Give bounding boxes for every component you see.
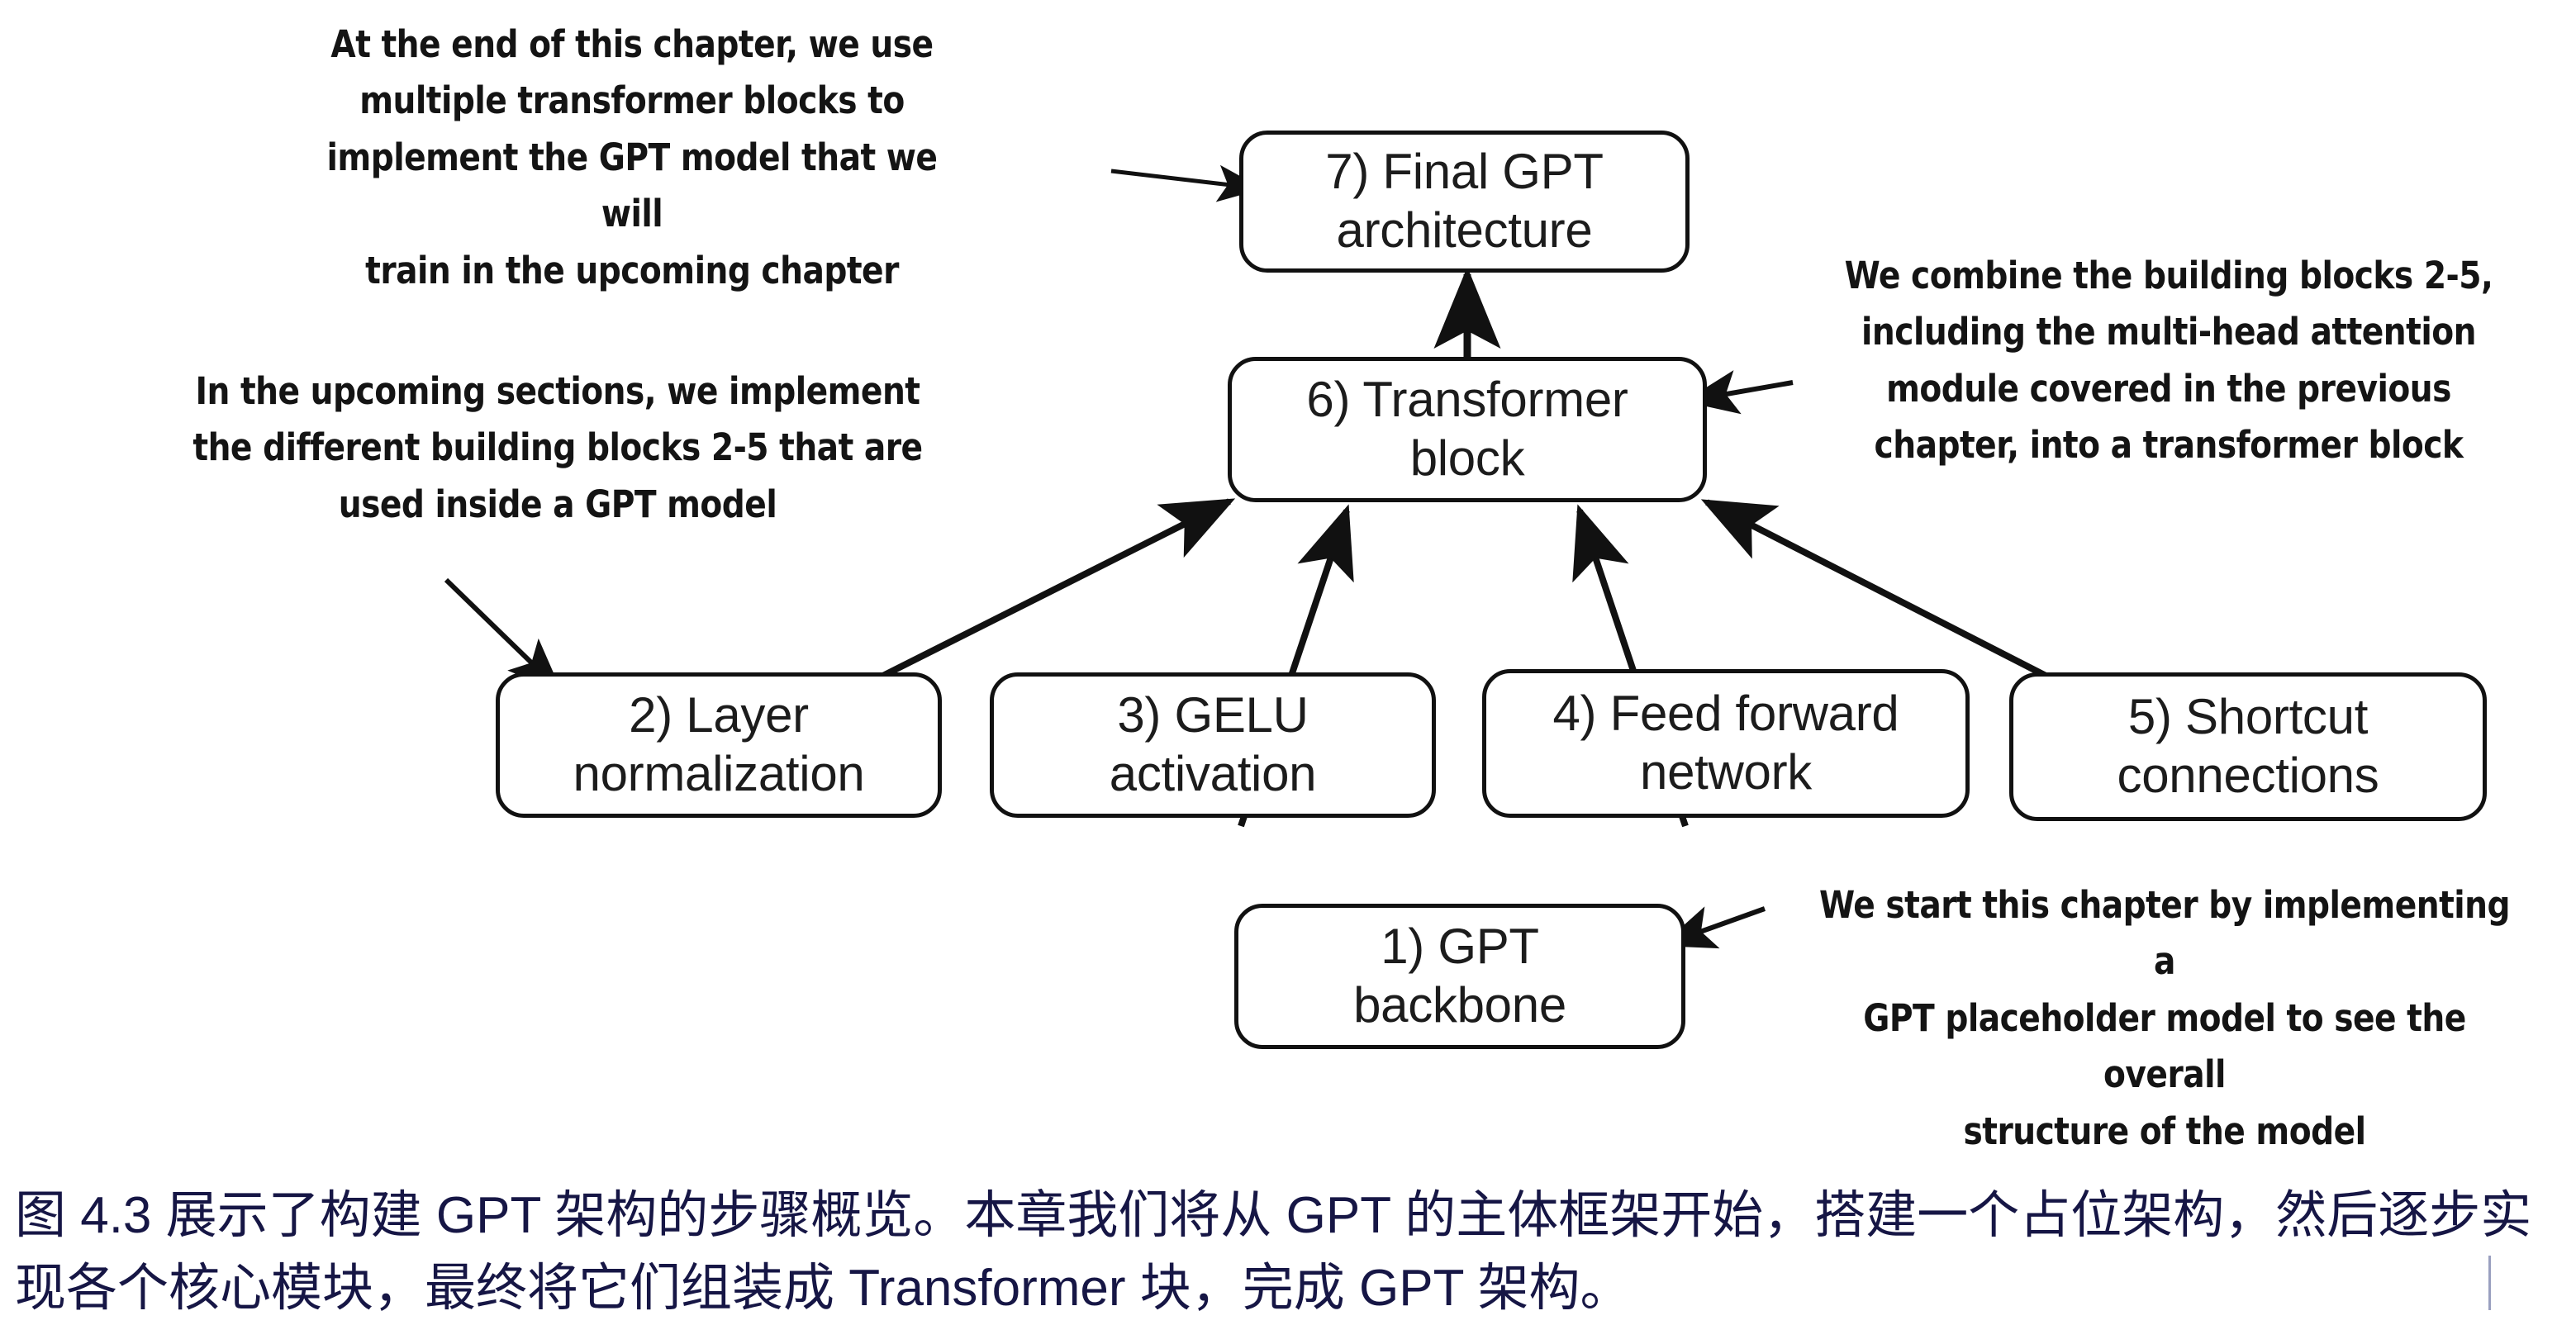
annotation-transformer-block: We combine the building blocks 2-5, incl… (1820, 248, 2517, 474)
node-final-gpt-architecture-label: 7) Final GPT architecture (1312, 143, 1616, 260)
node-transformer-block-label: 6) Transformer block (1293, 371, 1641, 488)
annotation-final-architecture: At the end of this chapter, we use multi… (297, 17, 966, 299)
node-final-gpt-architecture[interactable]: 7) Final GPT architecture (1239, 131, 1690, 273)
annotation-gpt-backbone: We start this chapter by implementing a … (1805, 877, 2524, 1160)
node-gelu-activation-label: 3) GELU activation (1096, 686, 1329, 804)
node-feed-forward-network-label: 4) Feed forward network (1539, 685, 1912, 802)
node-shortcut-connections[interactable]: 5) Shortcut connections (2009, 672, 2487, 821)
annotation-building-blocks: In the upcoming sections, we implement t… (188, 363, 928, 533)
node-feed-forward-network[interactable]: 4) Feed forward network (1482, 669, 1970, 818)
arrow-annotation-to-node7 (1111, 171, 1259, 188)
node-gpt-backbone[interactable]: 1) GPT backbone (1234, 904, 1685, 1049)
node-shortcut-connections-label: 5) Shortcut connections (2104, 688, 2393, 805)
figure-caption: 图 4.3 展示了构建 GPT 架构的步骤概览。本章我们将从 GPT 的主体框架… (15, 1180, 2559, 1325)
node-layer-normalization[interactable]: 2) Layer normalization (496, 672, 942, 818)
node-transformer-block[interactable]: 6) Transformer block (1228, 357, 1707, 502)
node-layer-normalization-label: 2) Layer normalization (560, 686, 878, 804)
figure-canvas: At the end of this chapter, we use multi… (0, 0, 2576, 1317)
node-gpt-backbone-label: 1) GPT backbone (1340, 918, 1580, 1035)
text-caret (2488, 1256, 2491, 1310)
node-gelu-activation[interactable]: 3) GELU activation (990, 672, 1436, 818)
